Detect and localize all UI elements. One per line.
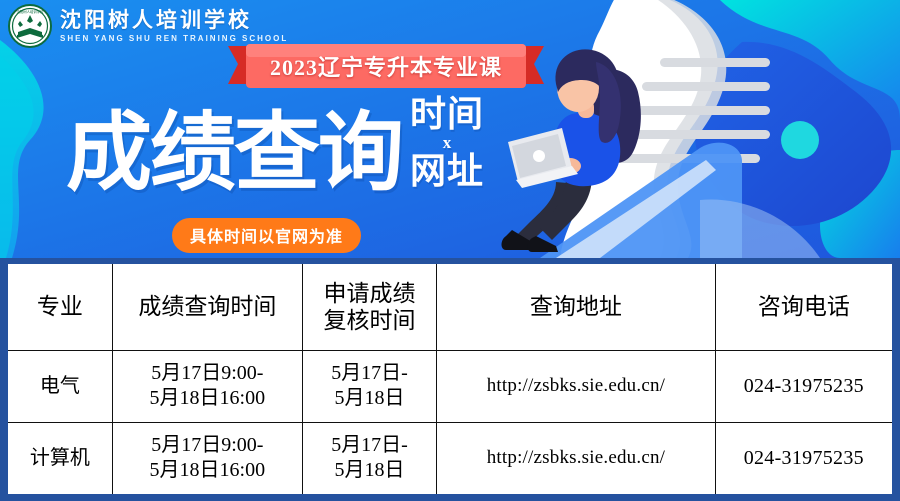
school-emblem-icon: 沈阳树人培训学校 bbox=[8, 4, 52, 48]
cell-review-time-line1: 5月17日- bbox=[306, 433, 433, 458]
cell-address[interactable]: http://zsbks.sie.edu.cn/ bbox=[437, 350, 715, 422]
cell-major: 计算机 bbox=[8, 422, 112, 494]
poster: 2023辽宁专升本专业课 沈阳树人培训学校 沈阳树人培训学校 SHEN YANG… bbox=[0, 0, 900, 501]
cell-address[interactable]: http://zsbks.sie.edu.cn/ bbox=[437, 422, 715, 494]
cell-query-time-line2: 5月18日16:00 bbox=[116, 458, 299, 483]
hero-title-side-top: 时间 bbox=[410, 96, 484, 132]
hero-title-block: 成绩查询 时间 x 网址 bbox=[66, 96, 484, 195]
cell-review-time-line2: 5月18日 bbox=[306, 386, 433, 411]
cell-major: 电气 bbox=[8, 350, 112, 422]
brand-name-en: SHEN YANG SHU REN TRAINING SCHOOL bbox=[60, 34, 288, 43]
brand-name-cn: 沈阳树人培训学校 bbox=[60, 9, 288, 31]
cell-review-time-line1: 5月17日- bbox=[306, 361, 433, 386]
cell-query-time: 5月17日9:00- 5月18日16:00 bbox=[112, 422, 302, 494]
cell-review-time-line2: 5月18日 bbox=[306, 458, 433, 483]
hero-title-side: 时间 x 网址 bbox=[410, 96, 484, 189]
info-table-container: 专业 成绩查询时间 申请成绩 复核时间 查询地址 咨询电话 电气 5月17日9:… bbox=[0, 258, 900, 501]
hero-title-side-bottom: 网址 bbox=[410, 153, 484, 189]
notice-badge: 具体时间以官网为准 bbox=[172, 218, 361, 253]
table-row: 电气 5月17日9:00- 5月18日16:00 5月17日- 5月18日 ht… bbox=[8, 350, 892, 422]
table-row: 计算机 5月17日9:00- 5月18日16:00 5月17日- 5月18日 h… bbox=[8, 422, 892, 494]
column-header-query-time: 成绩查询时间 bbox=[112, 264, 302, 350]
hero-title-main: 成绩查询 bbox=[66, 113, 402, 195]
cell-query-time-line1: 5月17日9:00- bbox=[116, 433, 299, 458]
table-header-row: 专业 成绩查询时间 申请成绩 复核时间 查询地址 咨询电话 bbox=[8, 264, 892, 350]
column-header-review-time-line1: 申请成绩 bbox=[306, 280, 433, 307]
column-header-review-time-line2: 复核时间 bbox=[306, 307, 433, 334]
ribbon-banner: 2023辽宁专升本专业课 bbox=[228, 44, 544, 88]
cell-review-time: 5月17日- 5月18日 bbox=[302, 350, 436, 422]
cell-phone: 024-31975235 bbox=[715, 350, 892, 422]
svg-text:沈阳树人培训学校: 沈阳树人培训学校 bbox=[16, 9, 44, 14]
schedule-table: 专业 成绩查询时间 申请成绩 复核时间 查询地址 咨询电话 电气 5月17日9:… bbox=[8, 264, 892, 494]
brand-logo: 沈阳树人培训学校 沈阳树人培训学校 SHEN YANG SHU REN TRAI… bbox=[8, 4, 288, 48]
cell-query-time-line2: 5月18日16:00 bbox=[116, 386, 299, 411]
cell-phone: 024-31975235 bbox=[715, 422, 892, 494]
column-header-phone: 咨询电话 bbox=[715, 264, 892, 350]
column-header-review-time: 申请成绩 复核时间 bbox=[302, 264, 436, 350]
cell-query-time-line1: 5月17日9:00- bbox=[116, 361, 299, 386]
column-header-major: 专业 bbox=[8, 264, 112, 350]
hero-title-side-mid: x bbox=[410, 134, 484, 151]
cell-review-time: 5月17日- 5月18日 bbox=[302, 422, 436, 494]
ribbon-text: 2023辽宁专升本专业课 bbox=[228, 44, 544, 88]
hero-banner: 2023辽宁专升本专业课 沈阳树人培训学校 沈阳树人培训学校 SHEN YANG… bbox=[0, 0, 900, 258]
cell-query-time: 5月17日9:00- 5月18日16:00 bbox=[112, 350, 302, 422]
column-header-address: 查询地址 bbox=[437, 264, 715, 350]
